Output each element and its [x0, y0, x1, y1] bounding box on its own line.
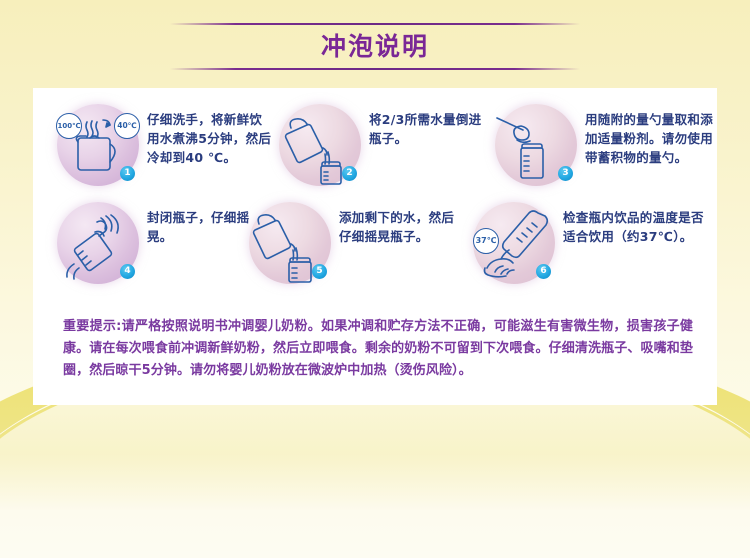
temp-badge-37c: 37℃ — [473, 228, 499, 254]
step-3-illustration: 3 — [495, 104, 577, 186]
step-2-number: 2 — [342, 166, 357, 181]
instructions-panel: 100℃ 40℃ 1 仔细洗手，将新鲜饮用水煮沸5分钟，然后冷却到40 ℃。 — [33, 88, 717, 405]
step-1-number: 1 — [120, 166, 135, 181]
step-4-number: 4 — [120, 264, 135, 279]
step-6-text: 检查瓶内饮品的温度是否适合饮用（约37℃）。 — [563, 202, 713, 246]
step-1-illustration: 100℃ 40℃ 1 — [57, 104, 139, 186]
step-6-illustration: 37℃ 6 — [473, 202, 555, 284]
step-3-text: 用随附的量勺量取和添加适量粉剂。请勿使用带蓄积物的量勺。 — [585, 104, 713, 167]
step-5-illustration: 5 — [249, 202, 331, 284]
steps-grid: 100℃ 40℃ 1 仔细洗手，将新鲜饮用水煮沸5分钟，然后冷却到40 ℃。 — [33, 94, 717, 299]
step-1-text: 仔细洗手，将新鲜饮用水煮沸5分钟，然后冷却到40 ℃。 — [147, 104, 272, 167]
page-title: 冲泡说明 — [0, 27, 750, 63]
background-bottom-fade — [0, 453, 750, 558]
step-2-illustration: 2 — [279, 104, 361, 186]
title-rule-top — [170, 23, 580, 25]
title-rule-bottom — [170, 68, 580, 70]
important-notice: 重要提示:请严格按照说明书冲调婴儿奶粉。如果冲调和贮存方法不正确，可能滋生有害微… — [63, 316, 693, 382]
title-block: 冲泡说明 — [0, 0, 750, 88]
temp-badge-40c: 40℃ — [114, 113, 140, 139]
step-6-number: 6 — [536, 264, 551, 279]
step-3-number: 3 — [558, 166, 573, 181]
step-4-text: 封闭瓶子，仔细摇晃。 — [147, 202, 257, 246]
temp-badge-100c: 100℃ — [56, 113, 82, 139]
step-6: 37℃ 6 检查瓶内饮品的温度是否适合饮用（约37℃）。 — [473, 202, 713, 284]
step-1: 100℃ 40℃ 1 仔细洗手，将新鲜饮用水煮沸5分钟，然后冷却到40 ℃。 — [57, 104, 272, 186]
step-4: 4 封闭瓶子，仔细摇晃。 — [57, 202, 257, 284]
step-4-illustration: 4 — [57, 202, 139, 284]
step-5: 5 添加剩下的水，然后仔细摇晃瓶子。 — [249, 202, 459, 284]
step-2: 2 将2/3所需水量倒进瓶子。 — [279, 104, 489, 186]
step-5-text: 添加剩下的水，然后仔细摇晃瓶子。 — [339, 202, 459, 246]
step-5-number: 5 — [312, 264, 327, 279]
step-3: 3 用随附的量勺量取和添加适量粉剂。请勿使用带蓄积物的量勺。 — [495, 104, 713, 186]
step-2-text: 将2/3所需水量倒进瓶子。 — [369, 104, 489, 148]
